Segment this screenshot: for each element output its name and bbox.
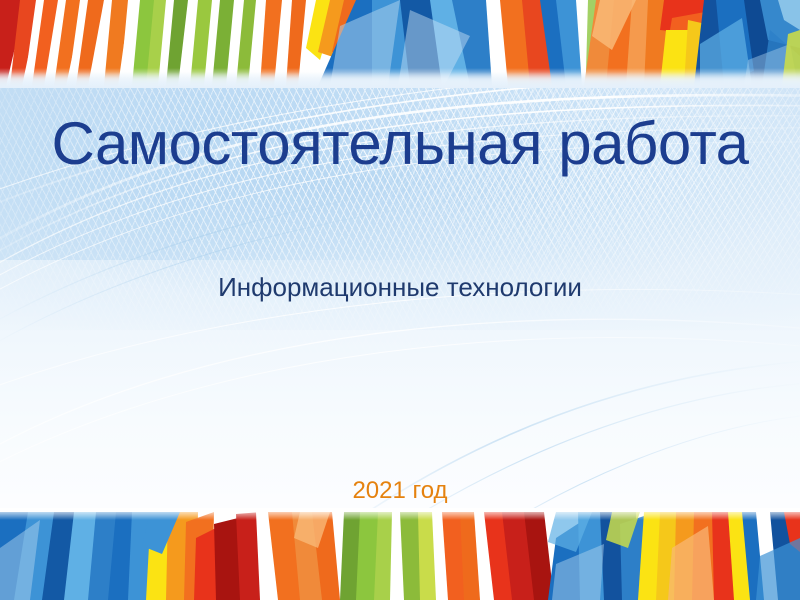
slide-subtitle: Информационные технологии bbox=[0, 272, 800, 303]
geometric-shards-bottom-art bbox=[0, 508, 800, 600]
decorative-border-top bbox=[0, 0, 800, 88]
slide-title: Самостоятельная работа bbox=[0, 112, 800, 175]
geometric-shards-top-art bbox=[0, 0, 800, 88]
decorative-border-bottom bbox=[0, 508, 800, 600]
presentation-slide: Самостоятельная работа Информационные те… bbox=[0, 0, 800, 600]
slide-year: 2021 год bbox=[0, 477, 800, 506]
